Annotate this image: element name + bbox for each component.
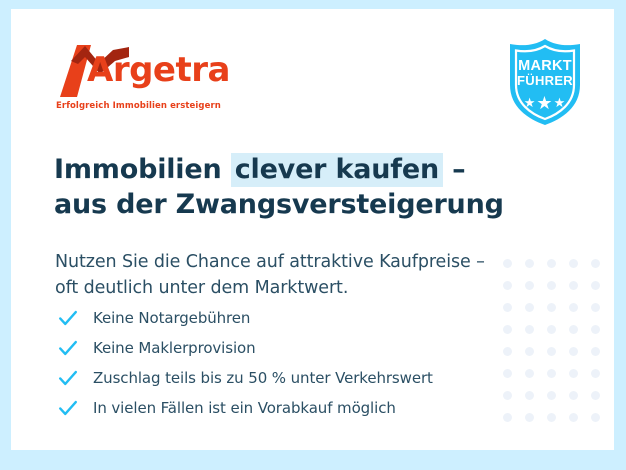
decorative-dot	[569, 303, 578, 312]
check-icon	[57, 337, 79, 359]
decorative-dot	[591, 259, 600, 268]
decorative-dot	[547, 303, 556, 312]
decorative-dot	[503, 259, 512, 268]
check-icon	[57, 397, 79, 419]
benefits-list: Keine Notargebühren Keine Maklerprovisio…	[57, 303, 433, 423]
check-icon	[57, 307, 79, 329]
star-icon-center: ★	[536, 93, 553, 113]
decorative-dot	[591, 325, 600, 334]
decorative-dot	[503, 391, 512, 400]
decorative-dot	[503, 413, 512, 422]
list-item: Keine Notargebühren	[57, 303, 433, 333]
decorative-dot	[591, 281, 600, 290]
subheadline-line2: oft deutlich unter dem Marktwert.	[55, 278, 348, 298]
list-item-label: In vielen Fällen ist ein Vorabkauf mögli…	[93, 399, 396, 417]
banner-canvas: Argetra Erfolgreich Immobilien ersteiger…	[11, 9, 614, 450]
list-item: Zuschlag teils bis zu 50 % unter Verkehr…	[57, 363, 433, 393]
decorative-dot	[569, 325, 578, 334]
subheadline: Nutzen Sie die Chance auf attraktive Kau…	[55, 249, 485, 302]
decorative-dot	[503, 281, 512, 290]
market-leader-badge: MARKT FÜHRER ★★★	[504, 37, 586, 127]
decorative-dot	[569, 413, 578, 422]
decorative-dot	[525, 391, 534, 400]
badge-stars: ★★★	[504, 94, 586, 112]
decorative-dot	[503, 347, 512, 356]
decorative-dot	[525, 369, 534, 378]
decorative-dot	[503, 325, 512, 334]
decorative-dot	[525, 259, 534, 268]
star-icon-left: ★	[524, 95, 537, 110]
decorative-dot	[525, 347, 534, 356]
decorative-dot	[547, 281, 556, 290]
decorative-dot	[569, 347, 578, 356]
decorative-dot	[525, 413, 534, 422]
shield-badge-icon	[504, 37, 586, 127]
check-icon	[57, 367, 79, 389]
headline-line1-before: Immobilien	[54, 154, 231, 185]
logo-tagline: Erfolgreich Immobilien ersteigern	[56, 101, 221, 111]
list-item-label: Keine Notargebühren	[93, 309, 250, 327]
decorative-dot-grid	[496, 252, 606, 428]
list-item-label: Keine Maklerprovision	[93, 339, 256, 357]
decorative-dot	[591, 303, 600, 312]
list-item: Keine Maklerprovision	[57, 333, 433, 363]
decorative-dot	[547, 259, 556, 268]
decorative-dot	[547, 325, 556, 334]
decorative-dot	[569, 369, 578, 378]
decorative-dot	[547, 391, 556, 400]
headline-highlight: clever kaufen	[231, 153, 443, 187]
logo-wordmark: Argetra	[87, 53, 230, 87]
argetra-logo[interactable]: Argetra Erfolgreich Immobilien ersteiger…	[55, 45, 255, 97]
logo-mark-row: Argetra	[55, 45, 255, 97]
headline-line2: aus der Zwangsversteigerung	[54, 189, 504, 220]
headline: Immobilien clever kaufen – aus der Zwang…	[54, 153, 504, 222]
decorative-dot	[591, 413, 600, 422]
decorative-dot	[525, 303, 534, 312]
decorative-dot	[503, 303, 512, 312]
decorative-dot	[569, 391, 578, 400]
list-item: In vielen Fällen ist ein Vorabkauf mögli…	[57, 393, 433, 423]
decorative-dot	[547, 347, 556, 356]
decorative-dot	[569, 259, 578, 268]
list-item-label: Zuschlag teils bis zu 50 % unter Verkehr…	[93, 369, 433, 387]
subheadline-line1: Nutzen Sie die Chance auf attraktive Kau…	[55, 252, 485, 272]
headline-line1-after: –	[443, 154, 466, 185]
decorative-dot	[591, 391, 600, 400]
decorative-dot	[547, 413, 556, 422]
decorative-dot	[569, 281, 578, 290]
decorative-dot	[591, 347, 600, 356]
decorative-dot	[591, 369, 600, 378]
decorative-dot	[525, 325, 534, 334]
decorative-dot	[503, 369, 512, 378]
decorative-dot	[525, 281, 534, 290]
star-icon-right: ★	[554, 95, 567, 110]
promo-banner: Argetra Erfolgreich Immobilien ersteiger…	[0, 0, 626, 470]
decorative-dot	[547, 369, 556, 378]
